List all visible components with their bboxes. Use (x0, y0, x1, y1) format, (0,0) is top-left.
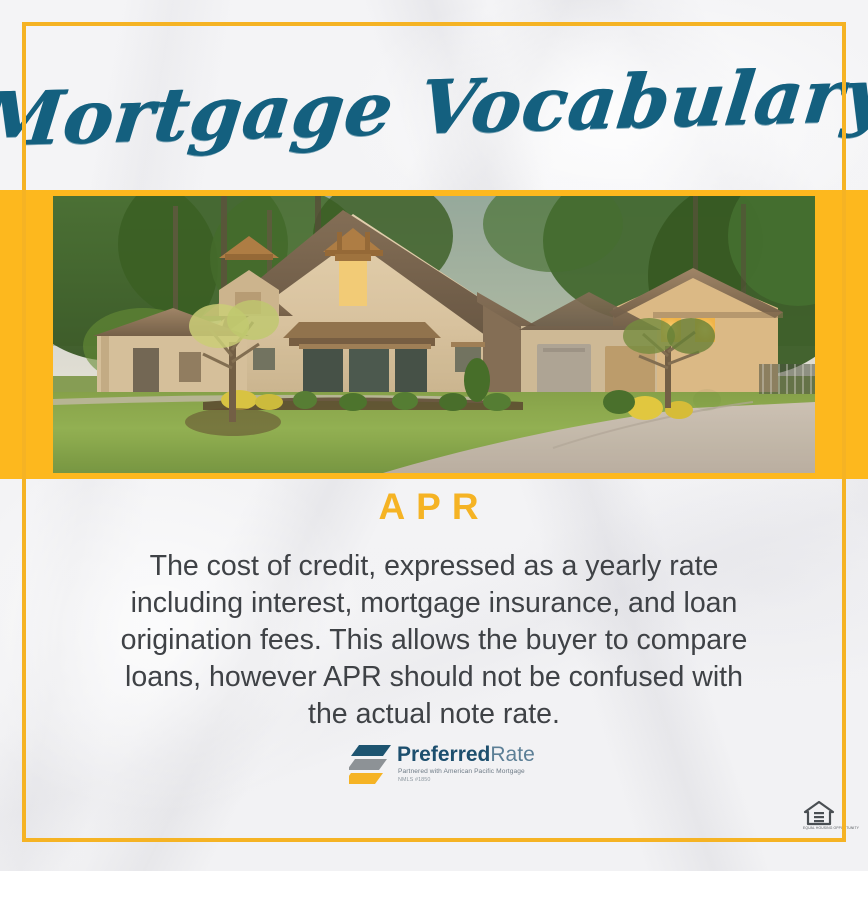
preferred-rate-logo-mark (349, 743, 393, 789)
vocabulary-term: APR (0, 486, 868, 528)
logo-tagline: Partnered with American Pacific Mortgage (398, 768, 525, 777)
house-photo (53, 196, 815, 473)
equal-housing-icon (803, 799, 835, 827)
house-photo-illustration (53, 196, 815, 473)
vocabulary-definition: The cost of credit, expressed as a yearl… (112, 548, 756, 733)
logo-name-light: Rate (490, 743, 534, 766)
logo-name-bold: Preferred (397, 743, 490, 766)
preferred-rate-logo[interactable]: PreferredRate Partnered with American Pa… (349, 741, 521, 793)
logo-nmls: NMLS #1850 (398, 777, 430, 784)
mortgage-vocabulary-poster: Mortgage Vocabulary (0, 0, 868, 900)
page-title: Mortgage Vocabulary (0, 58, 868, 157)
photo-accent-band (0, 190, 868, 479)
preferred-rate-wordmark: PreferredRate (397, 744, 535, 766)
title-band: Mortgage Vocabulary (0, 26, 868, 190)
equal-housing-label: EQUAL HOUSING OPPORTUNITY (803, 826, 835, 830)
equal-housing-badge: EQUAL HOUSING OPPORTUNITY (803, 799, 835, 835)
